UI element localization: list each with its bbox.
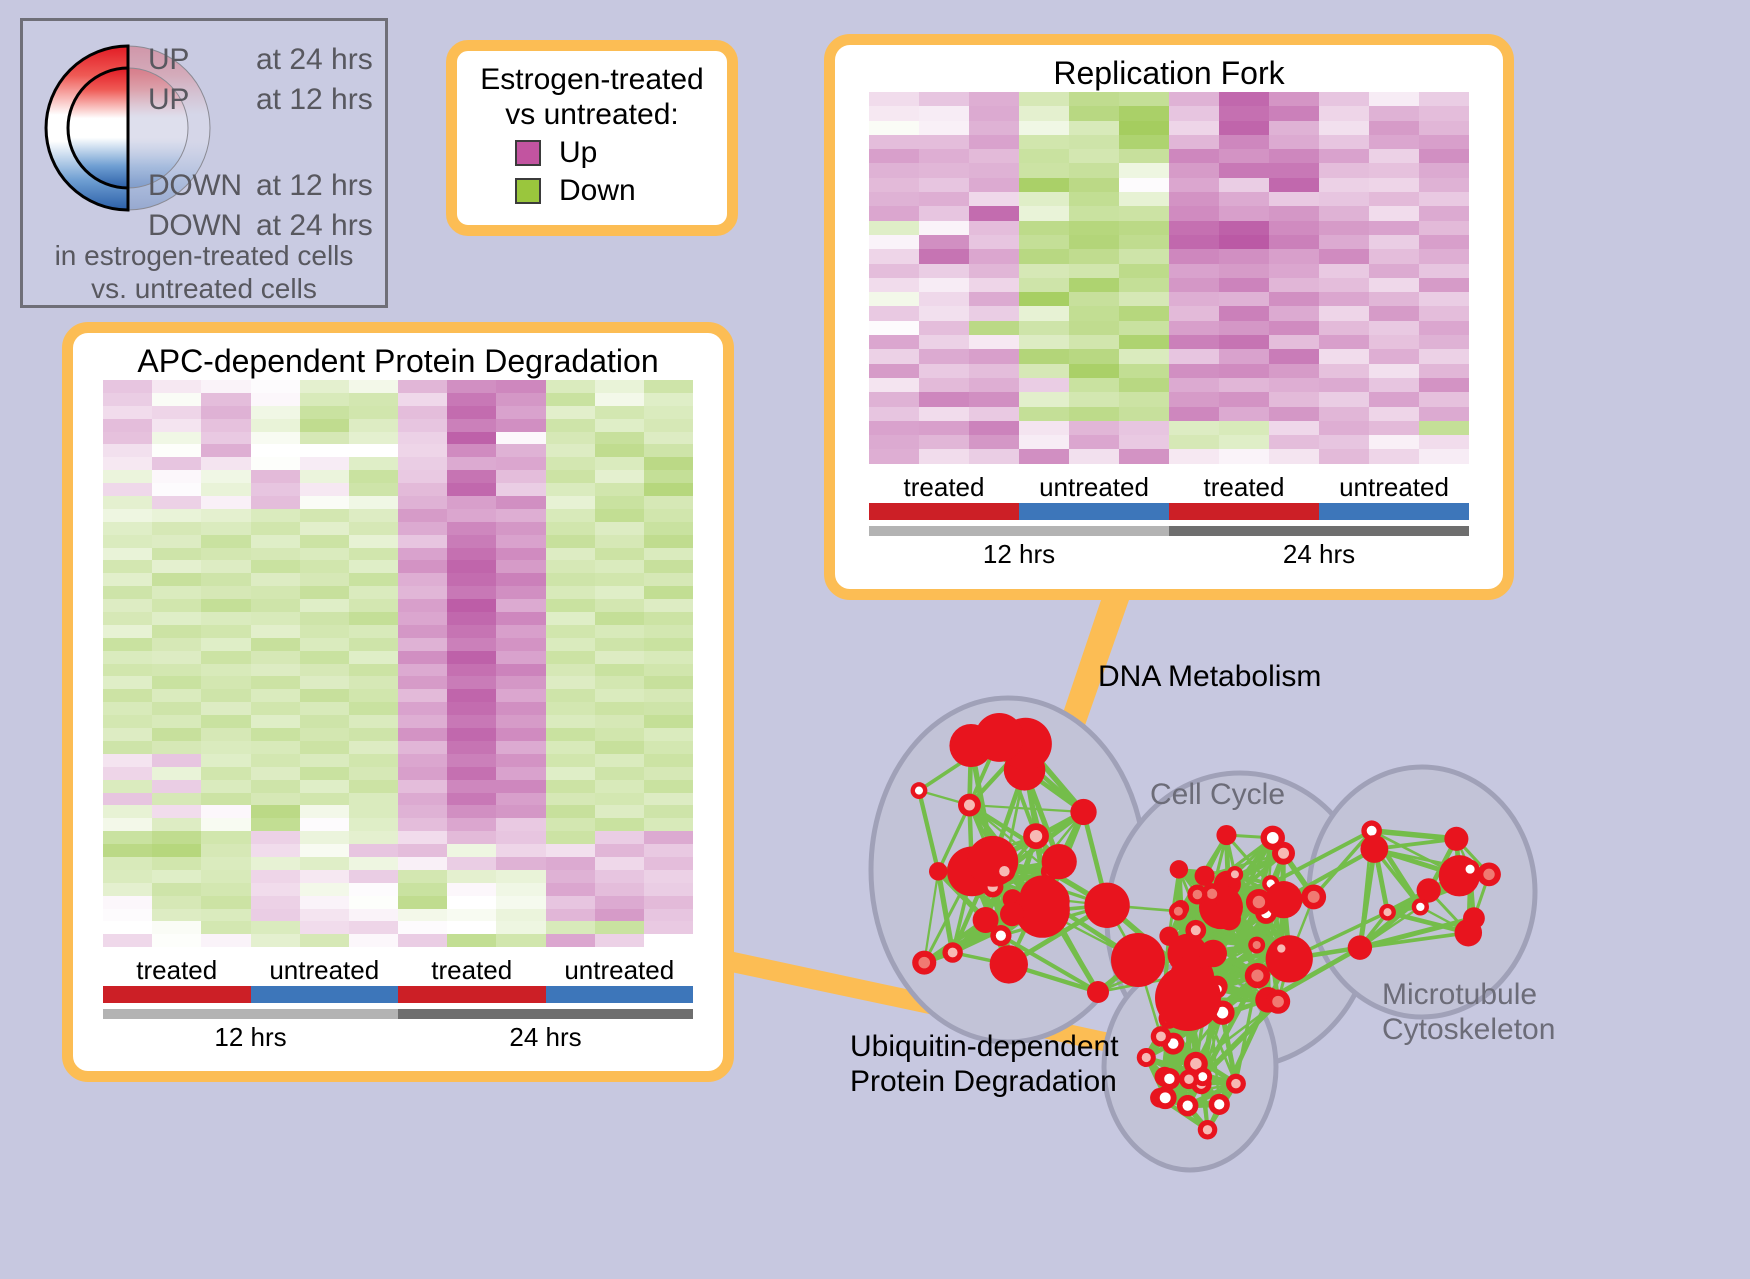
heatmap-cell [1369, 106, 1419, 120]
heatmap-cell [152, 509, 201, 522]
heatmap-cell [1319, 149, 1369, 163]
heatmap-cell [349, 535, 398, 548]
heatmap-cell [201, 780, 250, 793]
heatmap-cell [869, 235, 919, 249]
heatmap-cell [1069, 206, 1119, 220]
heatmap-cell [1019, 292, 1069, 306]
heatmap-cell [1369, 306, 1419, 320]
heatmap-cell [251, 715, 300, 728]
heatmap-cell [1219, 221, 1269, 235]
heatmap-cell [919, 221, 969, 235]
heatmap-cell [201, 909, 250, 922]
heatmap-cell [869, 407, 919, 421]
heatmap-cell [1069, 235, 1119, 249]
heatmap-cell [1119, 306, 1169, 320]
heatmap-cell [447, 380, 496, 393]
heatmap-cell [1169, 235, 1219, 249]
heatmap-cell [1269, 292, 1319, 306]
heatmap-cell [1319, 178, 1369, 192]
heatmap-cell [152, 896, 201, 909]
heatmap-cell [349, 457, 398, 470]
heatmap-cell [595, 638, 644, 651]
heatmap-cell [447, 560, 496, 573]
heatmap-cell [1369, 264, 1419, 278]
heatmap-cell [152, 380, 201, 393]
heatmap-cell [1319, 235, 1369, 249]
heatmap-cell [1369, 163, 1419, 177]
heatmap-cell [152, 457, 201, 470]
heatmap-cell [496, 470, 545, 483]
heatmap-cell [1119, 364, 1169, 378]
heatmap-cell [152, 870, 201, 883]
heatmap-cell [644, 496, 693, 509]
heatmap-cell [152, 921, 201, 934]
heatmap-cell [251, 612, 300, 625]
network-node[interactable] [1195, 866, 1215, 886]
heatmap-cell [1319, 421, 1369, 435]
color-bar-segment [1169, 503, 1319, 520]
network-node[interactable] [1084, 883, 1129, 928]
heatmap-cell [1069, 292, 1119, 306]
heatmap-cell [398, 496, 447, 509]
heatmap-cell [1269, 449, 1319, 463]
heatmap-cell [869, 178, 919, 192]
heatmap-cell [595, 676, 644, 689]
heatmap-cell [152, 573, 201, 586]
heatmap-cell [201, 380, 250, 393]
heatmap-cell [919, 192, 969, 206]
heatmap-cell [546, 702, 595, 715]
heatmap-cell [398, 767, 447, 780]
heatmap-cell [496, 870, 545, 883]
heatmap-cell [1219, 163, 1269, 177]
heatmap-cell [644, 793, 693, 806]
heatmap-cell [447, 625, 496, 638]
heatmap-cell [1219, 206, 1269, 220]
heatmap-cell [546, 767, 595, 780]
heatmap-cell [1269, 306, 1319, 320]
heatmap-cell [201, 612, 250, 625]
network-node-core [915, 787, 923, 795]
heatmap-cell [201, 664, 250, 677]
heatmap-cell [398, 522, 447, 535]
network-node-core [1198, 1072, 1207, 1081]
treatment-labels: treated untreated treated untreated [103, 955, 693, 986]
heatmap-cell [103, 664, 152, 677]
heatmap-cell [447, 870, 496, 883]
heatmap-cell [496, 754, 545, 767]
network-node-core [1214, 1099, 1224, 1109]
heatmap-cell [869, 435, 919, 449]
heatmap-cell [201, 548, 250, 561]
heatmap-cell [398, 535, 447, 548]
heatmap-cell [300, 509, 349, 522]
heatmap-cell [1019, 106, 1069, 120]
heatmap-cell [1319, 264, 1369, 278]
heatmap-cell [201, 638, 250, 651]
network-node[interactable] [1360, 835, 1388, 863]
legend-caption-line1: in estrogen-treated cells [23, 239, 385, 272]
heatmap-cell [251, 419, 300, 432]
heatmap-cell [919, 407, 969, 421]
heatmap-cell [103, 444, 152, 457]
heatmap-cell [1319, 278, 1369, 292]
network-node[interactable] [1199, 940, 1227, 968]
heatmap-cell [1019, 235, 1069, 249]
heatmap-cell [496, 780, 545, 793]
heatmap-cell [398, 380, 447, 393]
heatmap-cell [398, 651, 447, 664]
heatmap-cell [546, 599, 595, 612]
heatmap-cell [300, 612, 349, 625]
heatmap-cell [103, 535, 152, 548]
heatmap-cell [496, 702, 545, 715]
heatmap-cell [1369, 449, 1419, 463]
heatmap-cell [152, 728, 201, 741]
heatmap-cell [1119, 121, 1169, 135]
heatmap-cell [595, 651, 644, 664]
heatmap-cell [251, 741, 300, 754]
heatmap-cell [595, 393, 644, 406]
heatmap-cell [1369, 378, 1419, 392]
heatmap-cell [1169, 435, 1219, 449]
heatmap-cell [398, 805, 447, 818]
heatmap-cell [546, 741, 595, 754]
heatmap-cell [103, 689, 152, 702]
heatmap-cell [496, 548, 545, 561]
heatmap-cell [919, 435, 969, 449]
heatmap-cell [447, 741, 496, 754]
heatmap-cell [349, 676, 398, 689]
heatmap-cell [201, 896, 250, 909]
heatmap-cell [1169, 335, 1219, 349]
heatmap-cell [251, 754, 300, 767]
heatmap-cell [595, 793, 644, 806]
heatmap-cell [349, 715, 398, 728]
network-node[interactable] [1266, 935, 1313, 982]
heatmap-cell [919, 292, 969, 306]
heatmap-cell [1169, 92, 1219, 106]
heatmap-cell [152, 805, 201, 818]
heatmap-cell [1319, 449, 1369, 463]
heatmap-cell [251, 548, 300, 561]
heatmap-cell [546, 689, 595, 702]
heatmap-cell [644, 689, 693, 702]
heatmap-cell [398, 664, 447, 677]
network-svg [790, 600, 1750, 1279]
heatmap-cell [300, 573, 349, 586]
heatmap-cell [1319, 306, 1369, 320]
heatmap-cell [869, 449, 919, 463]
heatmap-cell [103, 793, 152, 806]
heatmap-cell [644, 419, 693, 432]
heatmap-cell [349, 496, 398, 509]
heatmap-cell [201, 741, 250, 754]
heatmap-cell [251, 457, 300, 470]
heatmap-cell [447, 883, 496, 896]
heatmap-cell [251, 638, 300, 651]
heatmap-cell [201, 754, 250, 767]
heatmap-cell [103, 702, 152, 715]
heatmap-cell [1019, 249, 1069, 263]
heatmap-cell [349, 857, 398, 870]
heatmap-cell [201, 728, 250, 741]
network-node[interactable] [1348, 935, 1372, 959]
heatmap-cell [103, 831, 152, 844]
heatmap-cell [969, 378, 1019, 392]
network-node[interactable] [1265, 881, 1302, 918]
heatmap-cell [103, 393, 152, 406]
ubiquitin-line1: Ubiquitin-dependent [850, 1030, 1119, 1065]
heatmap-cell [644, 599, 693, 612]
heatmap-cell [201, 767, 250, 780]
heatmap-cell [398, 689, 447, 702]
heatmap-cell [103, 483, 152, 496]
heatmap-cell [447, 921, 496, 934]
heatmap-cell [251, 509, 300, 522]
heatmap-cell [1369, 121, 1419, 135]
heatmap-cell [201, 676, 250, 689]
network-node-core [1251, 970, 1263, 982]
network-node[interactable] [1455, 919, 1483, 947]
heatmap-cell [398, 715, 447, 728]
heatmap-cell [300, 728, 349, 741]
network-node-core [1207, 889, 1217, 899]
heatmap-cell [969, 221, 1019, 235]
heatmap-cell [300, 767, 349, 780]
heatmap-cell [969, 335, 1019, 349]
heatmap-cell [595, 496, 644, 509]
heatmap-cell [398, 509, 447, 522]
heatmap-cell [1219, 364, 1269, 378]
heatmap-cell [251, 857, 300, 870]
heatmap-cell [1319, 192, 1369, 206]
heatmap-cell [546, 909, 595, 922]
network-node-core [1253, 941, 1261, 949]
panel-title: Replication Fork [835, 45, 1503, 92]
network-node[interactable] [975, 713, 1024, 762]
heatmap-cell [349, 509, 398, 522]
network-node[interactable] [1444, 827, 1468, 851]
heatmap-cell [103, 470, 152, 483]
heatmap-cell [152, 664, 201, 677]
heatmap-cell [398, 909, 447, 922]
heatmap-cell [251, 805, 300, 818]
heatmap-cell [349, 689, 398, 702]
heatmap-cell [201, 625, 250, 638]
heatmap-cell [644, 560, 693, 573]
heatmap-cell [595, 921, 644, 934]
network-node[interactable] [1070, 799, 1096, 825]
network-node-core [1231, 1079, 1241, 1089]
estrogen-key-item-down: Down [457, 174, 727, 208]
heatmap-cell [152, 522, 201, 535]
heatmap-cell [595, 548, 644, 561]
heatmap-cell [644, 754, 693, 767]
heatmap-cell [152, 560, 201, 573]
heatmap-cell [595, 934, 644, 947]
heatmap-cell [152, 754, 201, 767]
heatmap-cell [644, 573, 693, 586]
color-bar-segment [1169, 526, 1469, 536]
heatmap-cell [1369, 206, 1419, 220]
heatmap-cell [1219, 421, 1269, 435]
heatmap-cell [595, 818, 644, 831]
heatmap-cell [152, 715, 201, 728]
heatmap-cell [398, 444, 447, 457]
heatmap-cell [1069, 106, 1119, 120]
heatmap-cell [644, 470, 693, 483]
heatmap-cell [595, 805, 644, 818]
time-label: 24 hrs [1169, 539, 1469, 570]
heatmap-cell [349, 483, 398, 496]
heatmap-cell [349, 664, 398, 677]
heatmap-cell [152, 793, 201, 806]
heatmap-cell [103, 909, 152, 922]
heatmap-cell [969, 235, 1019, 249]
heatmap-cell [103, 625, 152, 638]
microtubule-line1: Microtubule [1382, 978, 1555, 1013]
heatmap-cell [300, 560, 349, 573]
color-bar-segment [103, 986, 251, 1003]
heatmap-cell [496, 805, 545, 818]
heatmap-cell [1269, 321, 1319, 335]
heatmap-cell [1169, 264, 1219, 278]
network-node-core [999, 866, 1009, 876]
heatmap-cell [201, 457, 250, 470]
heatmap-cell [447, 805, 496, 818]
heatmap-cell [201, 883, 250, 896]
heatmap-cell [1269, 278, 1319, 292]
network-node[interactable] [1042, 844, 1077, 879]
heatmap-cell [1119, 235, 1169, 249]
heatmap-cell [644, 676, 693, 689]
heatmap-cell [1069, 121, 1119, 135]
heatmap-cell [1119, 321, 1169, 335]
heatmap-cell [1369, 435, 1419, 449]
heatmap-cell [546, 470, 595, 483]
heatmap-cell [919, 378, 969, 392]
network-node[interactable] [1087, 981, 1109, 1003]
heatmap-cell [152, 909, 201, 922]
heatmap-cell [201, 419, 250, 432]
heatmap-cell [644, 457, 693, 470]
heatmap-cell [447, 728, 496, 741]
network-node[interactable] [1170, 860, 1188, 878]
heatmap-cell [349, 406, 398, 419]
heatmap-cell [1119, 292, 1169, 306]
heatmap-cell [447, 444, 496, 457]
estrogen-key-item-up: Up [457, 136, 727, 170]
heatmap-cell [1069, 321, 1119, 335]
heatmap-cell [251, 651, 300, 664]
heatmap-cell [1369, 407, 1419, 421]
heatmap-cell [300, 419, 349, 432]
heatmap-cell [546, 573, 595, 586]
estrogen-key-box: Estrogen-treated vs untreated: Up Down [446, 40, 738, 236]
heatmap-cell [1319, 92, 1369, 106]
network-node-core [1142, 1053, 1151, 1062]
heatmap-cell [869, 306, 919, 320]
heatmap-cell [1219, 135, 1269, 149]
color-bar-segment [869, 503, 1019, 520]
network-node[interactable] [973, 907, 999, 933]
heatmap-cell [1419, 407, 1469, 421]
heatmap-cell [398, 741, 447, 754]
heatmap-cell [595, 535, 644, 548]
network-node[interactable] [1155, 965, 1221, 1031]
heatmap-cell [919, 306, 969, 320]
heatmap-cell [447, 664, 496, 677]
heatmap-cell [546, 883, 595, 896]
up-label: Up [559, 136, 597, 170]
heatmap-cell [103, 844, 152, 857]
heatmap-cell [1119, 249, 1169, 263]
heatmap-cell [103, 715, 152, 728]
heatmap-cell [919, 121, 969, 135]
heatmap-cell [300, 844, 349, 857]
heatmap-cell [546, 560, 595, 573]
network-node-core [1272, 996, 1284, 1008]
heatmap-cell [1169, 135, 1219, 149]
heatmap-cell [644, 522, 693, 535]
heatmap-cell [152, 767, 201, 780]
network-node[interactable] [990, 945, 1028, 983]
heatmap-cell [300, 380, 349, 393]
heatmap-cell [1019, 449, 1069, 463]
heatmap-cell [869, 149, 919, 163]
heatmap-cell [496, 793, 545, 806]
heatmap-cell [349, 767, 398, 780]
heatmap-cell [447, 831, 496, 844]
heatmap-cell [595, 664, 644, 677]
heatmap-cell [349, 638, 398, 651]
heatmap-cell [251, 793, 300, 806]
heatmap-cell [919, 349, 969, 363]
heatmap-cell [546, 805, 595, 818]
heatmap-cell [919, 163, 969, 177]
heatmap-cell [546, 393, 595, 406]
heatmap-cell [447, 857, 496, 870]
heatmap-cell [1119, 349, 1169, 363]
network-node[interactable] [1025, 879, 1069, 923]
heatmap-cell [1269, 264, 1319, 278]
treatment-label: treated [103, 955, 251, 986]
heatmap-cell [644, 509, 693, 522]
heatmap-cell [496, 767, 545, 780]
network-node[interactable] [929, 862, 948, 881]
heatmap-cell [869, 364, 919, 378]
heatmap-cell [1269, 106, 1319, 120]
heatmap-cell [1169, 421, 1219, 435]
network-node-core [1253, 896, 1265, 908]
heatmap-cell [1269, 178, 1319, 192]
network-node[interactable] [1000, 902, 1024, 926]
heatmap-cell [969, 421, 1019, 435]
heatmap-cell [546, 586, 595, 599]
heatmap-cell [869, 121, 919, 135]
heatmap-cell [1319, 121, 1369, 135]
legend-row-list: UP at 24 hrs UP at 12 hrs DOWN at 12 hrs… [148, 43, 393, 249]
heatmap-cell [969, 106, 1019, 120]
heatmap-cell [644, 857, 693, 870]
heatmap-cell [1169, 321, 1219, 335]
network-node[interactable] [1216, 825, 1236, 845]
heatmap-cell [447, 496, 496, 509]
heatmap-cell [1419, 235, 1469, 249]
heatmap-cell [201, 560, 250, 573]
network-node[interactable] [1111, 933, 1165, 987]
